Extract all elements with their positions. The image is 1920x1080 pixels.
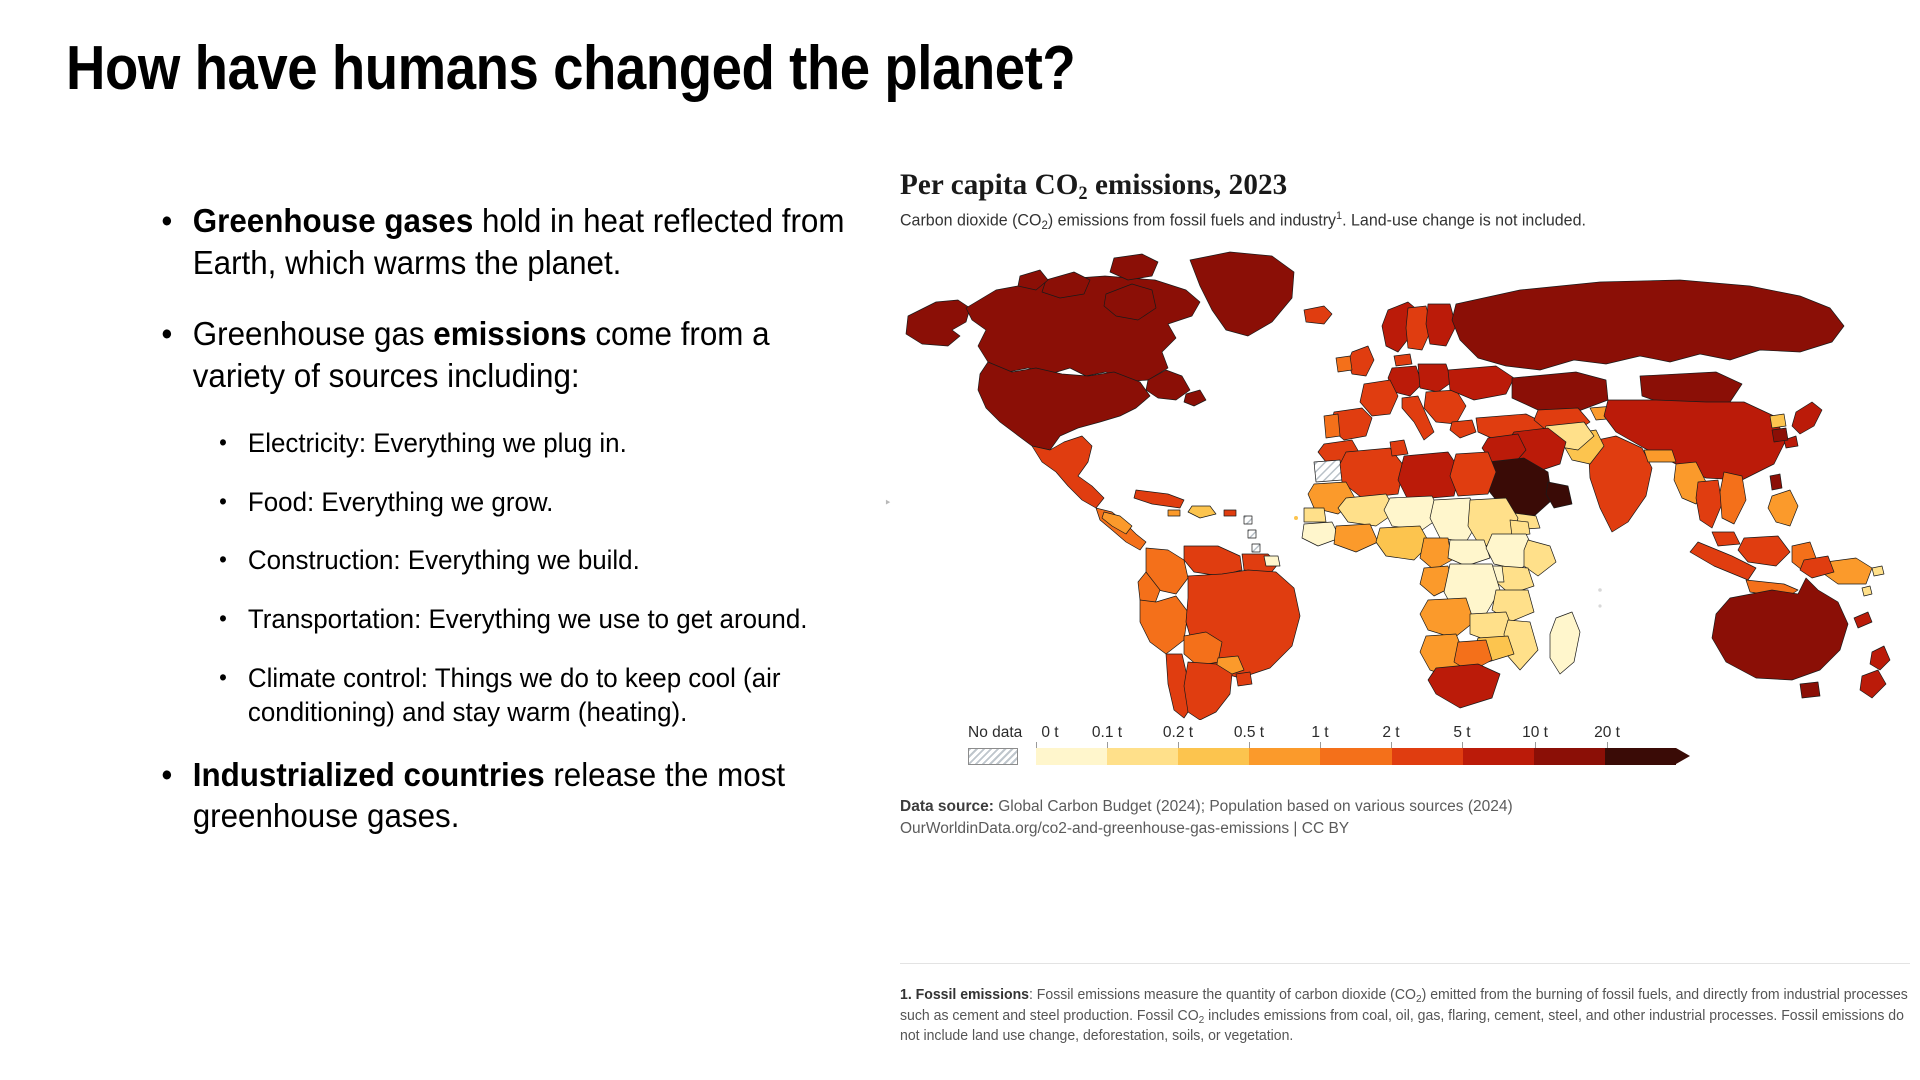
footnote-subscript-2: 2: [1199, 1015, 1205, 1026]
legend-no-data-swatch[interactable]: [968, 748, 1018, 765]
country-australia[interactable]: [1712, 578, 1848, 680]
country-balkans[interactable]: [1424, 390, 1466, 424]
sub-bullet-label: Construction: Everything we build.: [248, 545, 640, 575]
legend-no-data-label: No data: [968, 724, 1022, 742]
country-thailand[interactable]: [1696, 480, 1722, 528]
bullet-marker: •: [219, 485, 227, 518]
island-dot-indian: [1598, 588, 1602, 592]
chart-title-tail: emissions, 2023: [1088, 168, 1288, 201]
bullet-list: •Greenhouse gases hold in heat reflected…: [150, 200, 890, 867]
legend-segment-0[interactable]: [1036, 748, 1107, 765]
country-angola[interactable]: [1420, 598, 1474, 638]
legend-segment-8[interactable]: [1605, 748, 1676, 765]
world-map-svg[interactable]: [900, 250, 1900, 720]
chart-source-line: Data source: Global Carbon Budget (2024)…: [900, 796, 1900, 818]
country-venezuela[interactable]: [1184, 546, 1242, 576]
bullet-marker: •: [161, 200, 172, 242]
country-car[interactable]: [1448, 540, 1490, 566]
country-nepal-bangladesh[interactable]: [1644, 450, 1676, 462]
legend-tick-2: 0.2 t: [1163, 724, 1193, 742]
sub-bullet-list: •Electricity: Everything we plug in. •Fo…: [198, 426, 890, 729]
country-new-caledonia[interactable]: [1854, 612, 1872, 628]
chart-title-subscript: 2: [1079, 183, 1088, 204]
country-suriname[interactable]: [1264, 556, 1280, 566]
legend-tickmark-5: [1391, 742, 1392, 748]
bullet-marker: •: [219, 543, 227, 576]
stray-artifact: ‣: [884, 495, 892, 511]
legend-tickmark-4: [1320, 742, 1321, 748]
bullet-bold-lead: Industrialized countries: [193, 756, 545, 793]
legend-tick-7: 10 t: [1522, 724, 1548, 742]
bullet-marker: •: [219, 602, 227, 635]
country-peru[interactable]: [1140, 596, 1188, 654]
legend-segment-7[interactable]: [1534, 748, 1605, 765]
country-western-sahara[interactable]: [1314, 460, 1342, 482]
sub-bullet-climate-control: •Climate control: Things we do to keep c…: [198, 661, 862, 730]
country-egypt[interactable]: [1450, 452, 1496, 496]
country-france[interactable]: [1360, 380, 1398, 416]
legend-tick-8: 20 t: [1594, 724, 1620, 742]
country-alaska[interactable]: [906, 300, 970, 346]
footnote-divider: [900, 963, 1910, 964]
country-jamaica[interactable]: [1168, 510, 1180, 516]
bullet-text-pre: Greenhouse gas: [193, 315, 434, 352]
bullet-marker: •: [161, 754, 172, 796]
bullet-bold-mid: emissions: [433, 315, 586, 352]
country-tasmania[interactable]: [1800, 682, 1820, 698]
islands-lesser-antilles[interactable]: [1244, 516, 1260, 552]
chart-subtitle-a: Carbon dioxide (CO: [900, 212, 1041, 230]
legend-segment-3[interactable]: [1249, 748, 1320, 765]
slide-root: How have humans changed the planet? •Gre…: [0, 0, 1920, 1080]
chart-footnote: 1. Fossil emissions: Fossil emissions me…: [900, 985, 1909, 1047]
country-uae-oman[interactable]: [1546, 482, 1572, 508]
island-newfoundland[interactable]: [1184, 390, 1206, 406]
country-indonesia-borneo[interactable]: [1738, 536, 1790, 566]
legend-tickmark-0: [1036, 742, 1037, 748]
country-senegal-gambia[interactable]: [1304, 508, 1326, 522]
island-dot-atlantic: [1294, 516, 1298, 520]
country-hispaniola[interactable]: [1188, 506, 1216, 518]
legend-tickmark-3: [1249, 742, 1250, 748]
source-label: Data source:: [900, 798, 994, 815]
country-iceland[interactable]: [1304, 306, 1332, 324]
legend-segment-2[interactable]: [1178, 748, 1249, 765]
country-finland[interactable]: [1426, 304, 1456, 346]
country-united-kingdom[interactable]: [1348, 346, 1374, 376]
legend-tickmark-6: [1462, 742, 1463, 748]
legend-tick-3: 0.5 t: [1234, 724, 1264, 742]
legend-tick-0: 0 t: [1041, 724, 1058, 742]
legend-tick-6: 5 t: [1453, 724, 1470, 742]
sub-bullet-label: Transportation: Everything we use to get…: [248, 604, 808, 634]
country-tunisia[interactable]: [1390, 440, 1408, 456]
footnote-label: 1. Fossil emissions: [900, 987, 1029, 1003]
country-eritrea-djibouti[interactable]: [1510, 520, 1530, 536]
source-text: Global Carbon Budget (2024); Population …: [994, 798, 1513, 815]
country-taiwan[interactable]: [1770, 474, 1782, 490]
chart-subtitle: Carbon dioxide (CO2) emissions from foss…: [900, 209, 1870, 232]
bullet-marker: •: [161, 313, 172, 355]
sub-bullet-label: Electricity: Everything we plug in.: [248, 428, 627, 458]
country-south-africa[interactable]: [1428, 664, 1500, 708]
country-denmark[interactable]: [1394, 354, 1412, 366]
legend-tick-4: 1 t: [1311, 724, 1328, 742]
sub-bullet-electricity: •Electricity: Everything we plug in.: [198, 426, 862, 461]
country-north-korea[interactable]: [1770, 414, 1786, 428]
country-malaysia[interactable]: [1712, 532, 1740, 546]
sub-bullet-label: Climate control: Things we do to keep co…: [248, 663, 781, 728]
bullet-marker: •: [219, 661, 227, 694]
country-uruguay[interactable]: [1236, 672, 1252, 686]
island-victoria[interactable]: [1042, 272, 1090, 298]
country-vietnam[interactable]: [1720, 472, 1746, 524]
sub-bullet-label: Food: Everything we grow.: [248, 487, 553, 517]
country-philippines[interactable]: [1768, 490, 1798, 526]
country-ireland[interactable]: [1336, 356, 1352, 372]
bullet-marker: •: [219, 426, 227, 459]
country-ivory-coast-ghana[interactable]: [1334, 524, 1378, 552]
legend-tickmark-8: [1607, 742, 1608, 748]
chart-subtitle-c: . Land-use change is not included.: [1342, 212, 1586, 230]
sub-bullet-transportation: •Transportation: Everything we use to ge…: [198, 602, 862, 637]
country-kazakhstan[interactable]: [1512, 372, 1608, 412]
island-dot-pacific: [1598, 604, 1601, 607]
country-greece[interactable]: [1450, 420, 1476, 438]
chart-subtitle-subscript: 2: [1041, 218, 1047, 232]
chart-source-url[interactable]: OurWorldinData.org/co2-and-greenhouse-ga…: [900, 818, 1900, 840]
country-puerto-rico[interactable]: [1224, 510, 1236, 516]
country-japan[interactable]: [1784, 402, 1822, 448]
owid-chart: Per capita CO2 emissions, 2023 Carbon di…: [900, 168, 1900, 841]
chart-subtitle-b: ) emissions from fossil fuels and indust…: [1048, 212, 1336, 230]
country-argentina[interactable]: [1184, 662, 1232, 720]
island-ellesmere[interactable]: [1110, 254, 1158, 280]
country-portugal[interactable]: [1324, 414, 1340, 438]
country-south-korea[interactable]: [1772, 428, 1788, 442]
legend-color-bar[interactable]: [1036, 748, 1676, 765]
country-russia[interactable]: [1452, 280, 1844, 370]
bullet-bold-lead: Greenhouse gases: [193, 202, 474, 239]
chart-source-block: Data source: Global Carbon Budget (2024)…: [900, 796, 1900, 841]
country-madagascar[interactable]: [1550, 612, 1580, 674]
legend-tick-5: 2 t: [1382, 724, 1399, 742]
country-greenland[interactable]: [1190, 252, 1294, 336]
legend-tickmark-2: [1178, 742, 1179, 748]
chart-title: Per capita CO2 emissions, 2023: [900, 168, 1870, 201]
world-choropleth-map[interactable]: [900, 250, 1900, 720]
bullet-item-greenhouse-gases: •Greenhouse gases hold in heat reflected…: [150, 200, 853, 283]
legend-tick-1: 0.1 t: [1092, 724, 1122, 742]
footnote-text-a: : Fossil emissions measure the quantity …: [1029, 987, 1416, 1003]
sub-bullet-construction: •Construction: Everything we build.: [198, 543, 862, 578]
legend-segment-4[interactable]: [1320, 748, 1391, 765]
map-legend[interactable]: No data 0 t 0.1 t 0.2 t 0.5 t 1 t 2 t 5 …: [910, 724, 1900, 780]
bullet-item-emissions-sources: •Greenhouse gas emissions come from a va…: [150, 313, 853, 396]
legend-tickmark-1: [1107, 742, 1108, 748]
legend-arrow-icon: [1676, 748, 1690, 764]
page-title: How have humans changed the planet?: [66, 36, 1210, 101]
country-cuba[interactable]: [1134, 490, 1184, 508]
sub-bullet-food: •Food: Everything we grow.: [198, 485, 862, 520]
legend-segment-5[interactable]: [1392, 748, 1463, 765]
country-cameroon[interactable]: [1420, 538, 1452, 570]
bullet-item-industrialized-countries: •Industrialized countries release the mo…: [150, 754, 853, 837]
legend-segment-1[interactable]: [1107, 748, 1178, 765]
country-poland[interactable]: [1418, 364, 1452, 392]
legend-segment-6[interactable]: [1463, 748, 1534, 765]
legend-tickmark-7: [1535, 742, 1536, 748]
footnote-subscript-1: 2: [1416, 994, 1422, 1005]
chart-title-main: Per capita CO: [900, 168, 1079, 201]
country-new-zealand[interactable]: [1860, 646, 1890, 698]
